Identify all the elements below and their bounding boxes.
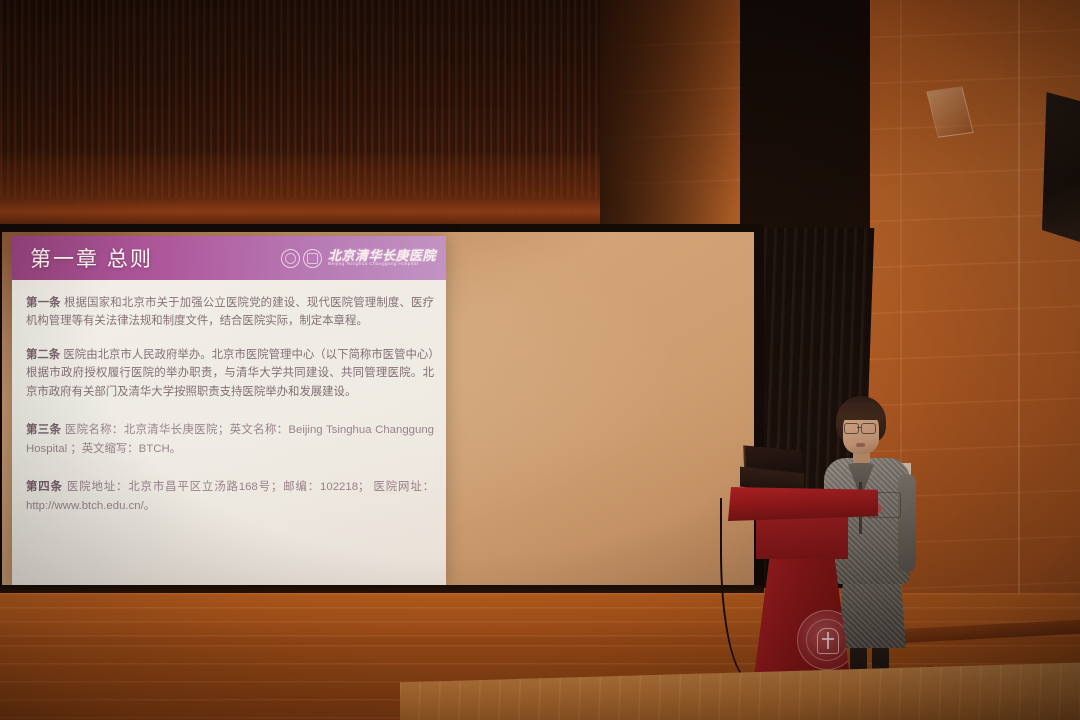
crest-cross bbox=[822, 638, 834, 640]
podium-neck bbox=[756, 517, 848, 559]
eyeglasses-icon bbox=[861, 423, 876, 434]
presenter-bangs bbox=[838, 402, 884, 420]
podium bbox=[728, 487, 878, 692]
slide-body: 第一条 根据国家和北京市关于加强公立医院党的建设、现代医院管理制度、医疗机构管理… bbox=[12, 280, 446, 515]
eyeglasses-bridge bbox=[857, 427, 861, 428]
article-text: 根据国家和北京市关于加强公立医院党的建设、现代医院管理制度、医疗机构管理等有关法… bbox=[26, 297, 434, 327]
article-item: 第四条 医院地址：北京市昌平区立汤路168号；邮编：102218； 医院网址：h… bbox=[26, 478, 434, 515]
eyeglasses-icon bbox=[844, 423, 859, 434]
article-text: 医院地址：北京市昌平区立汤路168号；邮编：102218； 医院网址：http:… bbox=[26, 481, 434, 511]
tsinghua-gate-icon bbox=[303, 249, 322, 268]
hospital-logo-text: 北京清华长庚医院 Beijing Tsinghua Changgung Hosp… bbox=[328, 249, 436, 267]
slide-title: 第一章 总则 bbox=[30, 243, 153, 273]
screenshot-scene: 第一章 总则 北京清华长庚医院 Beijing Tsinghua Changgu… bbox=[0, 0, 1080, 720]
article-item: 第二条 医院由北京市人民政府举办。北京市医院管理中心（以下简称市医管中心）根据市… bbox=[26, 346, 434, 401]
presenter-mouth bbox=[856, 443, 865, 447]
article-lead: 第一条 bbox=[26, 297, 61, 309]
slide-header: 第一章 总则 北京清华长庚医院 Beijing Tsinghua Changgu… bbox=[12, 236, 446, 280]
hospital-logo: 北京清华长庚医院 Beijing Tsinghua Changgung Hosp… bbox=[281, 249, 436, 268]
hospital-seal-icon bbox=[281, 249, 300, 268]
article-lead: 第三条 bbox=[26, 424, 61, 436]
article-item: 第一条 根据国家和北京市关于加强公立医院党的建设、现代医院管理制度、医疗机构管理… bbox=[26, 294, 434, 331]
hospital-name-cn: 北京清华长庚医院 bbox=[328, 249, 436, 262]
presentation-slide: 第一章 总则 北京清华长庚医院 Beijing Tsinghua Changgu… bbox=[12, 236, 446, 586]
article-text: 医院名称：北京清华长庚医院；英文名称：Beijing Tsinghua Chan… bbox=[26, 424, 434, 454]
article-item: 第三条 医院名称：北京清华长庚医院；英文名称：Beijing Tsinghua … bbox=[26, 421, 434, 458]
article-lead: 第二条 bbox=[26, 349, 60, 361]
podium-top bbox=[728, 487, 878, 521]
presenter-arm bbox=[898, 474, 916, 572]
article-lead: 第四条 bbox=[26, 481, 63, 493]
crest-cross bbox=[827, 632, 829, 649]
hospital-name-en: Beijing Tsinghua Changgung Hospital bbox=[328, 263, 446, 268]
article-text: 医院由北京市人民政府举办。北京市医院管理中心（以下简称市医管中心）根据市政府授权… bbox=[26, 349, 434, 398]
hospital-crest-icon bbox=[797, 610, 857, 670]
loudspeaker-icon bbox=[1042, 92, 1080, 242]
